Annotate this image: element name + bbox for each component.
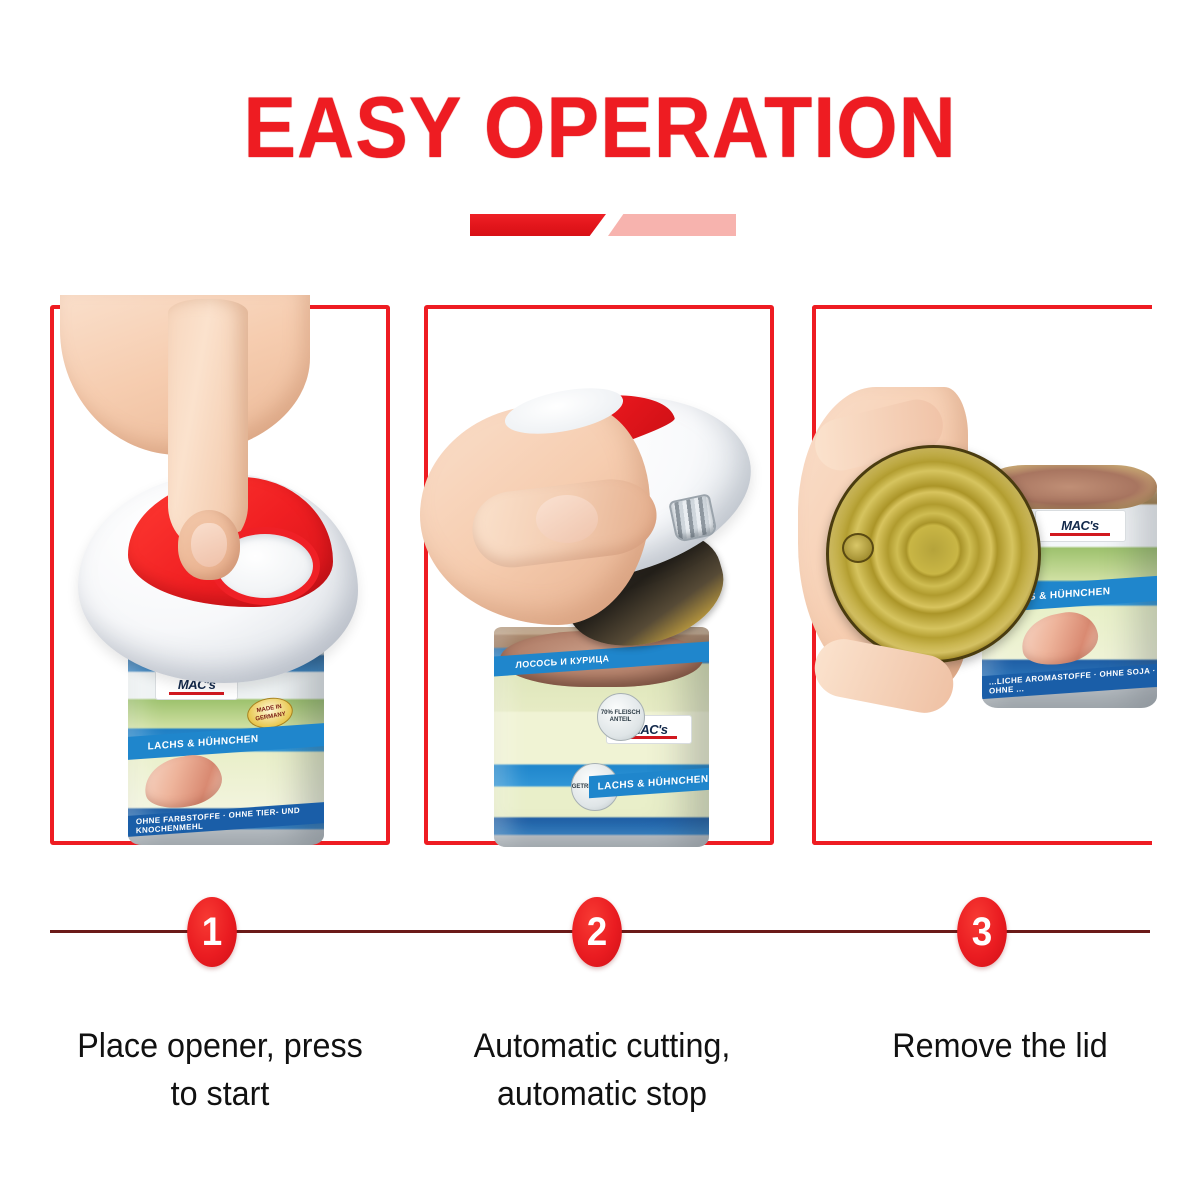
step-marker-2: 2	[572, 897, 622, 967]
meat-content-badge: 70% FLEISCH ANTEIL	[597, 693, 645, 741]
infographic-page: EASY OPERATION MAC's MADE IN GERMANY LAC…	[0, 0, 1200, 1200]
can-body: ЛОСОСЬ И КУРИЦА MAC's 70% FLEISCH ANTEIL…	[494, 627, 709, 847]
step-1-image-panel: MAC's MADE IN GERMANY LACHS & HÜHNCHEN O…	[50, 305, 390, 845]
step-3-caption: Remove the lid	[839, 1022, 1162, 1070]
divider-bar-light	[608, 214, 736, 236]
can-fish-illustration	[139, 749, 226, 815]
can-fish-illustration	[1016, 606, 1102, 670]
can-brand-label: MAC's	[1035, 510, 1126, 542]
step-2-image-panel: ЛОСОСЬ И КУРИЦА MAC's 70% FLEISCH ANTEIL…	[424, 305, 774, 845]
title-divider	[0, 214, 1200, 244]
thumbnail	[536, 495, 598, 543]
can-flavor-band: LACHS & HÜHNCHEN	[128, 723, 324, 760]
step-marker-1: 1	[187, 897, 237, 967]
step-1-caption: Place opener, press to start	[49, 1022, 391, 1118]
lid-tab	[842, 533, 874, 563]
can-bottom-band: OHNE FARBSTOFFE · OHNE TIER- UND KNOCHEN…	[128, 802, 324, 837]
steps-image-row: MAC's MADE IN GERMANY LACHS & HÜHNCHEN O…	[0, 305, 1200, 850]
step-2-caption: Automatic cutting, automatic stop	[441, 1022, 764, 1118]
step-marker-3: 3	[957, 897, 1007, 967]
cutting-gear-icon	[668, 493, 718, 543]
fingernail	[191, 523, 227, 567]
divider-bar-solid	[470, 214, 606, 236]
can-bottom-band: ...LICHE AROMASTOFFE · OHNE SOJA · OHNE …	[982, 664, 1157, 699]
step-3-image-panel: MAC's LACHS & HÜHNCHEN ...LICHE AROMASTO…	[812, 305, 1152, 845]
page-title: EASY OPERATION	[48, 82, 1152, 174]
